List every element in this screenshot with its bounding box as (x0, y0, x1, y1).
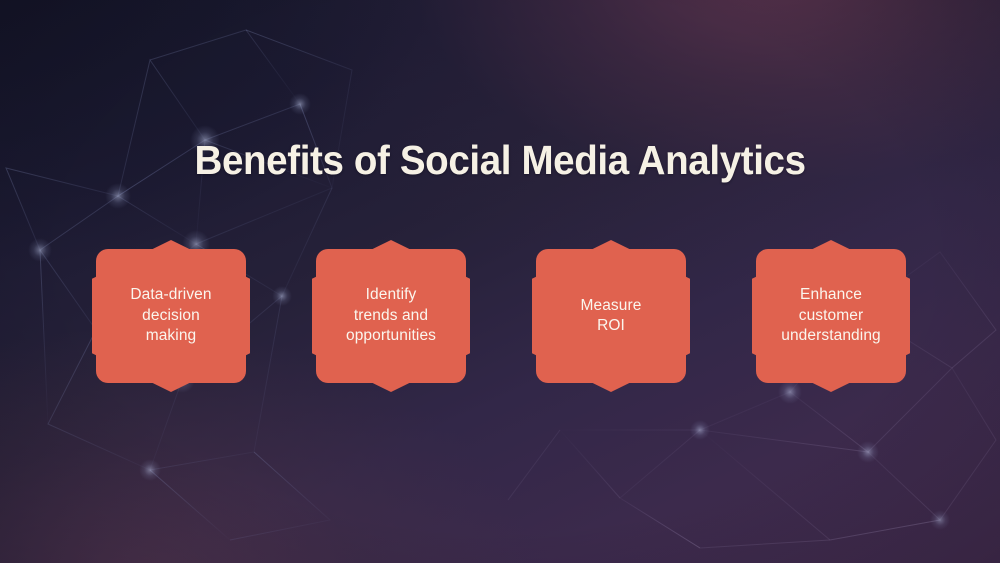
benefit-label: Identify trends and opportunities (346, 285, 436, 347)
benefit-label: Measure ROI (580, 296, 641, 337)
benefit-label: Enhance customer understanding (781, 285, 881, 347)
benefit-hexagon-data-driven-decision-making[interactable]: Data-driven decision making (92, 240, 250, 392)
title-container: Benefits of Social Media Analytics (0, 134, 1000, 186)
benefit-hexagon-measure-roi[interactable]: Measure ROI (532, 240, 690, 392)
slide-canvas: Benefits of Social Media Analytics Data-… (0, 0, 1000, 563)
benefit-hexagon-identify-trends-and-opportunities[interactable]: Identify trends and opportunities (312, 240, 470, 392)
page-title: Benefits of Social Media Analytics (194, 134, 805, 186)
benefit-label: Data-driven decision making (130, 285, 211, 347)
benefit-hexagon-enhance-customer-understanding[interactable]: Enhance customer understanding (752, 240, 910, 392)
benefits-hexagon-row: Data-driven decision making Identify tre… (92, 240, 910, 392)
